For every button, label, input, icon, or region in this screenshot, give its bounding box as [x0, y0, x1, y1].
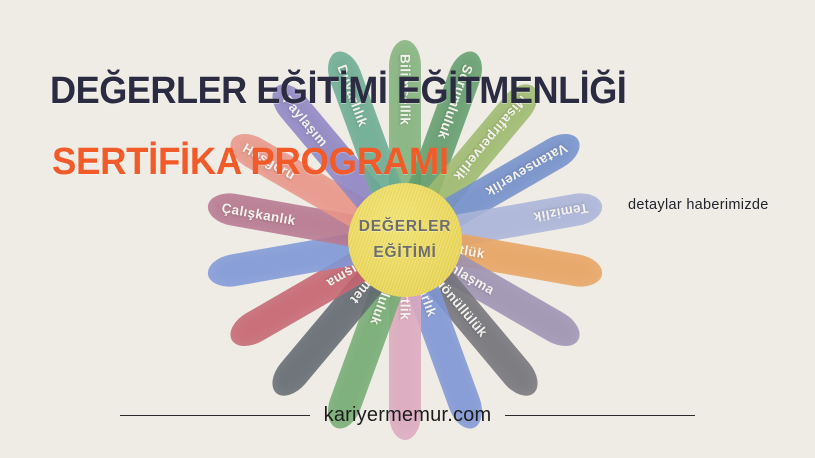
footer-rule-left	[120, 415, 310, 416]
flower-petal-label: Temizlik	[532, 200, 589, 224]
flower-center: DEĞERLER EĞİTİMİ	[348, 183, 462, 297]
footer-rule-right	[505, 415, 695, 416]
poster-canvas: BilimsellikSorumlulukMisafirperverlikVat…	[0, 0, 815, 458]
side-note-text: detaylar haberimizde	[628, 197, 769, 213]
flower-petal-label: Çalışkanlık	[221, 200, 297, 228]
brand-watermark: kariyermemur.com	[324, 404, 492, 427]
flower-center-line1: DEĞERLER	[359, 218, 452, 236]
page-title-line-1: DEĞERLER EĞİTİMİ EĞİTMENLİĞİ	[50, 72, 626, 110]
flower-center-line2: EĞİTİMİ	[373, 244, 436, 262]
footer: kariyermemur.com	[0, 398, 815, 432]
page-title-line-2: SERTİFİKA PROGRAMI	[52, 143, 449, 181]
